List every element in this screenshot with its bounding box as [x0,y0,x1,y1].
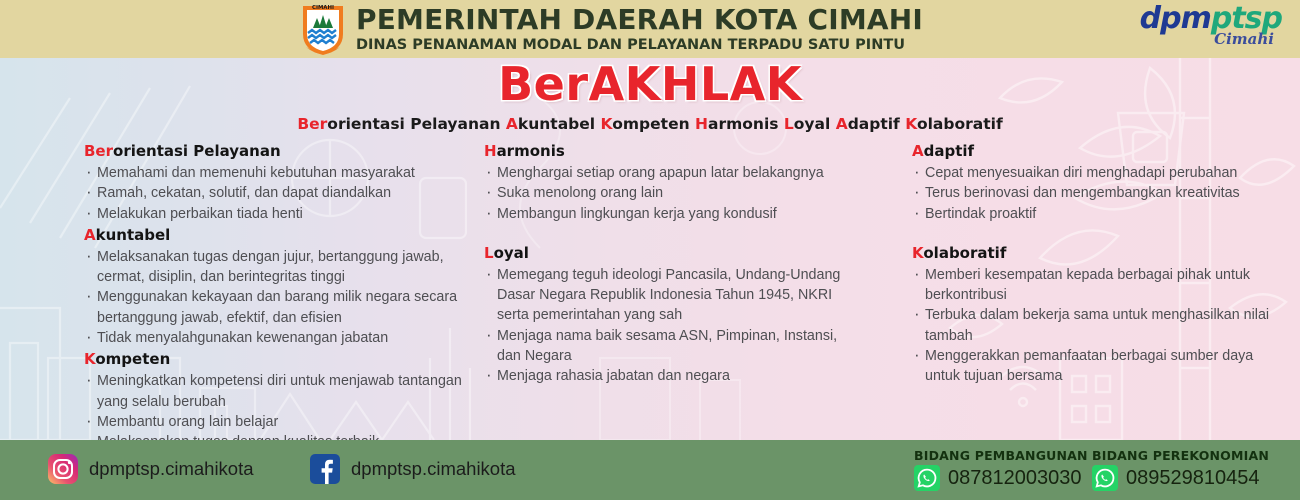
page-title: BerAKHLAK [0,60,1300,108]
tagline: Berorientasi Pelayanan Akuntabel Kompete… [0,114,1300,134]
value-point: Menggunakan kekayaan dan barang milik ne… [84,287,464,328]
value-heading-initial: K [84,350,95,368]
tagline-word-4: oyal [794,115,836,133]
value-heading-initial: A [912,142,924,160]
value-heading-initial: L [484,244,494,262]
tagline-word-2: ompeten [612,115,695,133]
value-heading-initial: K [912,244,923,262]
contact-label-1: BIDANG PEMBANGUNAN [914,448,1088,463]
values-columns: Berorientasi PelayananMemahami dan memen… [0,140,1300,440]
value-heading-daptif: Adaptif [912,140,1282,162]
tagline-word-5: daptif [848,115,906,133]
value-point: Membantu orang lain belajar [84,412,464,432]
berakhlak-poster: CIMAHI PEMERINTAH DAERAH KOTA CIMAHI DIN… [0,0,1300,500]
values-column-1: Berorientasi PelayananMemahami dan memen… [84,140,464,453]
value-point: Memahami dan memenuhi kebutuhan masyarak… [84,163,464,183]
emblem-label: CIMAHI [312,5,334,11]
value-point: Menggerakkan pemanfaatan berbagai sumber… [912,346,1282,387]
whatsapp-number-2: 089529810454 [1126,467,1259,490]
value-heading-initial: H [484,142,497,160]
value-point: Memegang teguh ideologi Pancasila, Undan… [484,265,864,326]
instagram-handle: dpmptsp.cimahikota [89,458,254,480]
value-point: Membangun lingkungan kerja yang kondusif [484,204,864,224]
tagline-word-6: olaboratif [917,115,1003,133]
tagline-initial-6: K [905,115,917,133]
value-point: Tidak menyalahgunakan kewenangan jabatan [84,328,464,348]
cimahi-emblem-icon: CIMAHI [300,2,346,56]
contact-label-2: BIDANG PEREKONOMIAN [1092,448,1269,463]
dpmptsp-logo: dpmptsp Cimahi [1102,4,1282,54]
government-title: PEMERINTAH DAERAH KOTA CIMAHI [356,5,923,35]
value-heading-rest: daptif [924,142,974,160]
tagline-word-1: kuntabel [518,115,601,133]
value-point-list: Memahami dan memenuhi kebutuhan masyarak… [84,163,464,224]
value-point-list: Memegang teguh ideologi Pancasila, Undan… [484,265,864,387]
value-point: Memberi kesempatan kepada berbagai pihak… [912,265,1282,306]
value-heading-oyal: Loyal [484,242,864,264]
value-heading-olaboratif: Kolaboratif [912,242,1282,264]
value-point: Menghargai setiap orang apapun latar bel… [484,163,864,183]
tagline-initial-1: A [506,115,518,133]
value-point: Terbuka dalam bekerja sama untuk menghas… [912,305,1282,346]
value-point: Cepat menyesuaikan diri menghadapi perub… [912,163,1282,183]
value-point: Terus berinovasi dan mengembangkan kreat… [912,183,1282,203]
value-point-list: Melaksanakan tugas dengan jujur, bertang… [84,247,464,348]
tagline-word-3: armonis [708,115,784,133]
value-point: Melaksanakan tugas dengan jujur, bertang… [84,247,464,288]
value-point: Bertindak proaktif [912,204,1282,224]
value-point: Suka menolong orang lain [484,183,864,203]
page-header: CIMAHI PEMERINTAH DAERAH KOTA CIMAHI DIN… [0,0,1300,58]
facebook-handle: dpmptsp.cimahikota [351,458,516,480]
instagram-account[interactable]: dpmptsp.cimahikota [48,454,254,484]
facebook-icon [310,454,340,484]
value-point-list: Cepat menyesuaikan diri menghadapi perub… [912,163,1282,224]
value-heading-rest: armonis [497,142,565,160]
contact-perekonomian: BIDANG PEREKONOMIAN 089529810454 [1092,448,1269,491]
value-heading-rest: ompeten [95,350,170,368]
value-point: Menjaga rahasia jabatan dan negara [484,366,864,386]
value-point: Menjaga nama baik sesama ASN, Pimpinan, … [484,326,864,367]
tagline-initial-3: H [695,115,708,133]
whatsapp-icon [1092,465,1118,491]
value-heading-kuntabel: Akuntabel [84,224,464,246]
whatsapp-row-2[interactable]: 089529810454 [1092,465,1269,491]
whatsapp-icon [914,465,940,491]
facebook-account[interactable]: dpmptsp.cimahikota [310,454,516,484]
contact-pembangunan: BIDANG PEMBANGUNAN 087812003030 [914,448,1088,491]
value-heading-rest: kuntabel [96,226,171,244]
header-text-block: PEMERINTAH DAERAH KOTA CIMAHI DINAS PENA… [356,2,923,54]
values-column-3: AdaptifCepat menyesuaikan diri menghadap… [912,140,1282,387]
value-heading-rest: oyal [494,244,529,262]
value-point-list: Menghargai setiap orang apapun latar bel… [484,163,864,224]
logo-text-dpm: dpm [1140,1,1211,36]
value-point: Meningkatkan kompetensi diri untuk menja… [84,371,464,412]
instagram-icon [48,454,78,484]
tagline-initial-0: Ber [297,115,327,133]
value-heading-initial: Ber [84,142,113,160]
value-heading-rest: orientasi Pelayanan [113,142,281,160]
tagline-word-0: orientasi Pelayanan [327,115,506,133]
tagline-initial-4: L [784,115,794,133]
department-subtitle: DINAS PENANAMAN MODAL DAN PELAYANAN TERP… [356,36,923,54]
value-point: Melakukan perbaikan tiada henti [84,204,464,224]
value-heading-armonis: Harmonis [484,140,864,162]
whatsapp-row-1[interactable]: 087812003030 [914,465,1088,491]
tagline-initial-5: A [836,115,848,133]
value-heading-rest: olaboratif [923,244,1006,262]
whatsapp-number-1: 087812003030 [948,467,1081,490]
value-heading-initial: A [84,226,96,244]
header-identity: CIMAHI PEMERINTAH DAERAH KOTA CIMAHI DIN… [300,2,923,56]
value-heading-orientasi-pelayanan: Berorientasi Pelayanan [84,140,464,162]
value-point-list: Memberi kesempatan kepada berbagai pihak… [912,265,1282,387]
value-point: Ramah, cekatan, solutif, dan dapat diand… [84,183,464,203]
values-column-2: HarmonisMenghargai setiap orang apapun l… [484,140,864,387]
value-heading-ompeten: Kompeten [84,348,464,370]
tagline-initial-2: K [601,115,613,133]
page-footer: dpmptsp.cimahikota dpmptsp.cimahikota BI… [0,440,1300,500]
